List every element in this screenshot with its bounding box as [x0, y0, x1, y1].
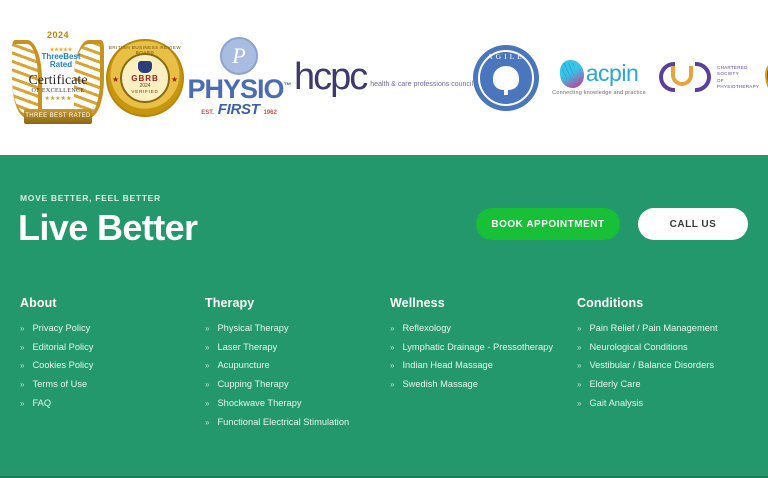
footer-column-heading-therapy: Therapy	[205, 296, 390, 310]
footer-link[interactable]: Reflexology	[402, 323, 451, 333]
star-left-icon: ★	[112, 75, 119, 84]
footer-column-heading-wellness: Wellness	[390, 296, 577, 310]
footer-link[interactable]: Swedish Massage	[402, 379, 477, 389]
list-item[interactable]: »Shockwave Therapy	[205, 398, 390, 408]
footer-link[interactable]: Gait Analysis	[589, 398, 643, 408]
physio-est-label: EST.	[201, 110, 214, 116]
footer-link[interactable]: Editorial Policy	[32, 342, 93, 352]
chevron-right-icon: »	[205, 400, 209, 408]
footer-link[interactable]: Cookies Policy	[32, 360, 93, 370]
footer-link[interactable]: Cupping Therapy	[217, 379, 288, 389]
footer-link[interactable]: Elderly Care	[589, 379, 640, 389]
agile-logo: AGILE	[473, 45, 539, 111]
accreditation-logo-agile: AGILE	[473, 45, 539, 111]
list-item[interactable]: »Reflexology	[390, 323, 577, 333]
list-item[interactable]: »Pain Relief / Pain Management	[577, 323, 768, 333]
csp-wordmark: CHARTERED SOCIETY OF PHYSIOTHERAPY	[717, 65, 759, 89]
chevron-right-icon: »	[577, 362, 581, 370]
list-item[interactable]: »Vestibular / Balance Disorders	[577, 360, 768, 370]
footer-link[interactable]: Acupuncture	[217, 360, 269, 370]
physio-first-logo: P PHYSIO™ EST. FIRST 1962	[184, 37, 294, 118]
badge-ribbon: THREE BEST RATED	[24, 109, 92, 124]
threebest-rated-badge: 2024 ★★★★★ ThreeBest Rated Certificate O…	[10, 28, 106, 128]
chevron-right-icon: »	[577, 344, 581, 352]
chevron-right-icon: »	[205, 325, 209, 333]
badge-brand: ★★★★★ ThreeBest Rated	[32, 48, 90, 70]
seal-verified: VERIFIED	[131, 89, 158, 94]
accreditation-logo-csp: CHARTERED SOCIETY OF PHYSIOTHERAPY	[659, 60, 768, 96]
list-item[interactable]: »Functional Electrical Stimulation	[205, 417, 390, 427]
chevron-right-icon: »	[205, 362, 209, 370]
chevron-right-icon: »	[577, 325, 581, 333]
footer-link[interactable]: Vestibular / Balance Disorders	[589, 360, 714, 370]
chevron-right-icon: »	[205, 419, 209, 427]
footer-link[interactable]: Pain Relief / Pain Management	[589, 323, 717, 333]
chevron-right-icon: »	[20, 325, 24, 333]
chevron-right-icon: »	[390, 362, 394, 370]
footer-link[interactable]: Physical Therapy	[217, 323, 288, 333]
csp-line4: PHYSIOTHERAPY	[717, 84, 759, 90]
footer-column-about: About »Privacy Policy »Editorial Policy …	[20, 296, 205, 435]
chevron-right-icon: »	[20, 344, 24, 352]
list-item[interactable]: »Acupuncture	[205, 360, 390, 370]
footer-link-columns: About »Privacy Policy »Editorial Policy …	[0, 296, 768, 435]
badge-brand-line2: Rated	[50, 60, 72, 69]
list-item[interactable]: »Neurological Conditions	[577, 342, 768, 352]
acpin-tagline: Connecting knowledge and practice	[539, 90, 659, 96]
accreditation-logo-acpin: acpin Connecting knowledge and practice	[539, 60, 659, 96]
badge-title-block: Certificate OF EXCELLENCE ★★★★★	[26, 74, 90, 102]
list-item[interactable]: »Laser Therapy	[205, 342, 390, 352]
footer-link[interactable]: Functional Electrical Stimulation	[217, 417, 349, 427]
footer-link[interactable]: Terms of Use	[32, 379, 87, 389]
accreditation-logo-band: 2024 ★★★★★ ThreeBest Rated Certificate O…	[0, 0, 768, 155]
chevron-right-icon: »	[205, 344, 209, 352]
physio-tm: ™	[284, 81, 291, 90]
footer-column-therapy: Therapy »Physical Therapy »Laser Therapy…	[205, 296, 390, 435]
hero-cta-row: BOOK APPOINTMENT CALL US	[476, 208, 748, 240]
chevron-right-icon: »	[20, 362, 24, 370]
list-item[interactable]: »Lymphatic Drainage - Pressotherapy	[390, 342, 577, 352]
footer-link[interactable]: Indian Head Massage	[402, 360, 492, 370]
accreditation-logo-hcpc: hcpc health & care professions council	[294, 62, 473, 92]
list-item[interactable]: »Physical Therapy	[205, 323, 390, 333]
physio-est-year: 1962	[263, 110, 276, 116]
chevron-right-icon: »	[577, 381, 581, 389]
physio-wordmark-line1: PHYSIO™	[184, 77, 294, 101]
tree-icon	[493, 66, 519, 90]
hero-section: MOVE BETTER, FEEL BETTER Live Better BOO…	[0, 155, 768, 280]
accreditation-logo-gbrb: BRITISH BUSINESS REVIEW BOARD ★ ★ GBRB 2…	[106, 39, 184, 117]
badge-year: 2024	[10, 30, 106, 40]
hero-headline: Live Better	[18, 207, 197, 249]
physio-line2-text: FIRST	[218, 101, 260, 118]
acpin-mark-row: acpin	[539, 60, 659, 88]
csp-arc-right	[695, 62, 711, 92]
list-item[interactable]: »Privacy Policy	[20, 323, 205, 333]
chevron-right-icon: »	[577, 400, 581, 408]
acpin-wordmark: acpin	[586, 62, 638, 85]
list-item[interactable]: »Cupping Therapy	[205, 379, 390, 389]
chevron-right-icon: »	[390, 325, 394, 333]
seal-inner: GBRB 2024 VERIFIED	[120, 53, 170, 103]
csp-arc-mid	[671, 66, 693, 86]
accreditation-logo-threebest-rated: 2024 ★★★★★ ThreeBest Rated Certificate O…	[10, 28, 106, 128]
star-right-icon: ★	[171, 75, 178, 84]
list-item[interactable]: »Cookies Policy	[20, 360, 205, 370]
physio-line1-text: PHYSIO	[187, 74, 283, 104]
footer-link[interactable]: Lymphatic Drainage - Pressotherapy	[402, 342, 553, 352]
list-item[interactable]: »Editorial Policy	[20, 342, 205, 352]
chevron-right-icon: »	[205, 381, 209, 389]
footer-link[interactable]: FAQ	[32, 398, 51, 408]
call-us-button[interactable]: CALL US	[638, 208, 748, 240]
gbrb-seal-badge: BRITISH BUSINESS REVIEW BOARD ★ ★ GBRB 2…	[106, 39, 184, 117]
hero-kicker: MOVE BETTER, FEEL BETTER	[20, 193, 161, 203]
badge-title: Certificate	[28, 73, 87, 88]
acpin-logo: acpin Connecting knowledge and practice	[539, 60, 659, 96]
csp-swoosh-icon	[659, 60, 711, 96]
list-item[interactable]: »Terms of Use	[20, 379, 205, 389]
footer-column-wellness: Wellness »Reflexology »Lymphatic Drainag…	[390, 296, 577, 435]
footer-column-heading-about: About	[20, 296, 205, 310]
hcpc-logo: hcpc health & care professions council	[294, 62, 473, 92]
agile-letters: AGILE	[473, 52, 539, 61]
list-item[interactable]: »FAQ	[20, 398, 205, 408]
list-item[interactable]: »Indian Head Massage	[390, 360, 577, 370]
physio-monogram-icon: P	[220, 37, 258, 75]
footer-link[interactable]: Laser Therapy	[217, 342, 277, 352]
page-root: 2024 ★★★★★ ThreeBest Rated Certificate O…	[0, 0, 768, 478]
chevron-right-icon: »	[390, 381, 394, 389]
footer-link-list-conditions: »Pain Relief / Pain Management »Neurolog…	[577, 323, 768, 408]
badge-subtitle: OF EXCELLENCE	[26, 88, 90, 94]
footer-column-conditions: Conditions »Pain Relief / Pain Managemen…	[577, 296, 768, 435]
seal-acronym: GBRB	[131, 74, 159, 83]
footer-link-list-therapy: »Physical Therapy »Laser Therapy »Acupun…	[205, 323, 390, 427]
list-item[interactable]: »Swedish Massage	[390, 379, 577, 389]
chevron-right-icon: »	[20, 400, 24, 408]
accreditation-logo-physio-first: P PHYSIO™ EST. FIRST 1962	[184, 37, 294, 118]
crest-icon	[138, 61, 152, 73]
footer-link[interactable]: Privacy Policy	[32, 323, 90, 333]
chevron-right-icon: »	[20, 381, 24, 389]
hcpc-wordmark: hcpc	[294, 62, 366, 92]
chartered-society-of-physiotherapy-logo: CHARTERED SOCIETY OF PHYSIOTHERAPY	[659, 60, 768, 96]
footer-column-heading-conditions: Conditions	[577, 296, 768, 310]
chevron-right-icon: »	[390, 344, 394, 352]
book-appointment-button[interactable]: BOOK APPOINTMENT	[476, 208, 620, 240]
footer-link-list-about: »Privacy Policy »Editorial Policy »Cooki…	[20, 323, 205, 408]
badge-rating-stars: ★★★★★	[26, 96, 90, 102]
footer-link[interactable]: Neurological Conditions	[589, 342, 687, 352]
footer-link-list-wellness: »Reflexology »Lymphatic Drainage - Press…	[390, 323, 577, 389]
list-item[interactable]: »Elderly Care	[577, 379, 768, 389]
footer-link[interactable]: Shockwave Therapy	[217, 398, 301, 408]
head-profile-icon	[560, 60, 584, 88]
list-item[interactable]: »Gait Analysis	[577, 398, 768, 408]
hcpc-subtitle: health & care professions council	[370, 81, 473, 93]
